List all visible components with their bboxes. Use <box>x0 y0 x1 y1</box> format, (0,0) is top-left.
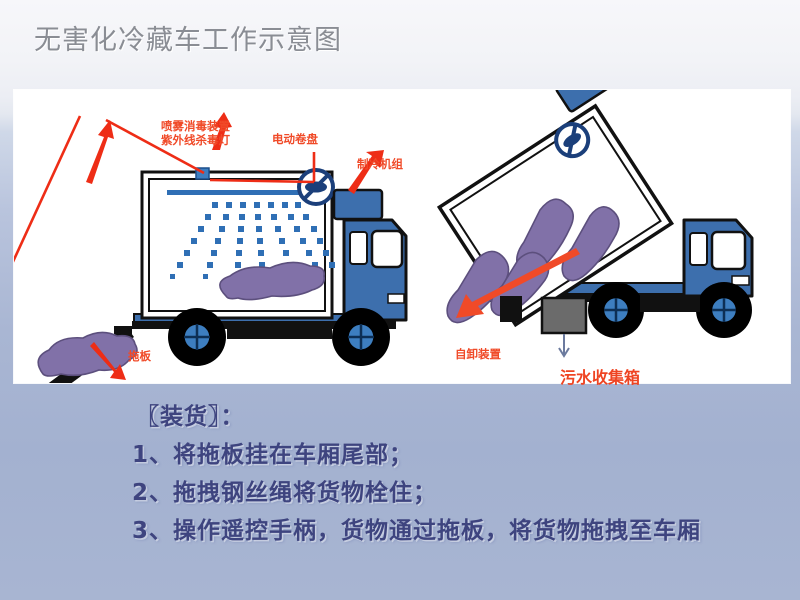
label-spray-disinfection: 喷雾消毒装置 紫外线杀毒灯 <box>161 119 230 147</box>
instruction-line-1: 1、将拖板挂在车厢尾部； <box>132 436 796 474</box>
label-spray-line1: 喷雾消毒装置 <box>161 119 230 133</box>
cooling-unit-right <box>556 90 612 112</box>
label-waste-water-tank: 污水收集箱 <box>560 368 640 387</box>
instruction-line-2: 2、拖拽钢丝绳将货物栓住； <box>132 474 796 512</box>
label-electric-reel: 电动卷盘 <box>272 132 318 146</box>
wheel-front-right <box>696 282 752 338</box>
slide-root: 无害化冷藏车工作示意图 <box>0 0 800 600</box>
diagram-canvas <box>14 90 790 383</box>
arrow-to-towboard-label <box>90 342 126 380</box>
arrow-to-tank-label <box>559 334 569 356</box>
page-title: 无害化冷藏车工作示意图 <box>34 26 342 56</box>
wheel-rear-right <box>588 282 644 338</box>
label-spray-line2: 紫外线杀毒灯 <box>161 133 230 147</box>
arrow-to-spray-label <box>86 120 114 184</box>
label-cooling-unit: 制冷机组 <box>357 157 403 171</box>
waste-water-tank <box>542 298 586 333</box>
diagram-panel <box>14 90 790 383</box>
label-dump-device: 自卸装置 <box>455 347 501 361</box>
instructions-block: 〖装货〗： 1、将拖板挂在车厢尾部； 2、拖拽钢丝绳将货物栓住； 3、操作遥控手… <box>136 398 796 550</box>
instruction-line-3: 3、操作遥控手柄，货物通过拖板，将货物拖拽至车厢 <box>132 512 796 550</box>
instructions-heading: 〖装货〗： <box>136 398 796 436</box>
right-truck-illustration <box>444 90 790 383</box>
label-tow-board: 拖板 <box>128 349 151 363</box>
